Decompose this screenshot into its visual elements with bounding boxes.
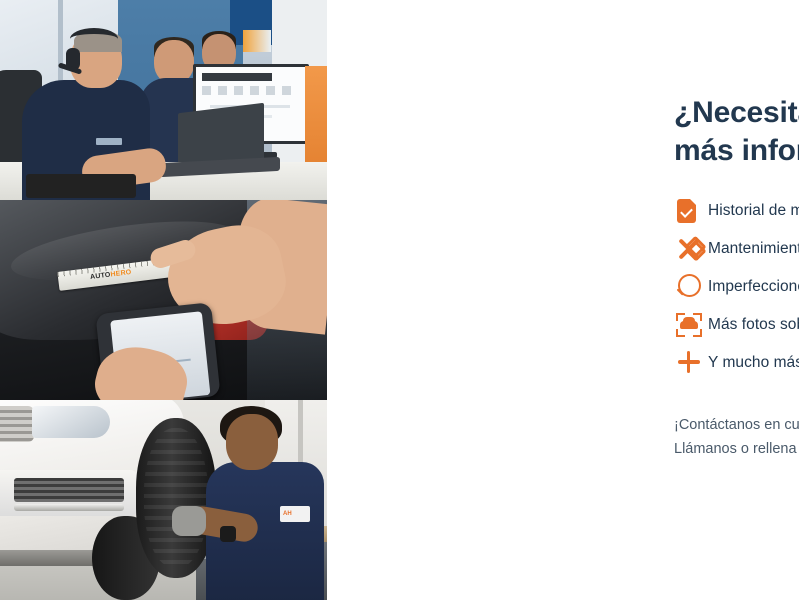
- contact-paragraph: ¡Contáctanos en cualquier momento para m…: [674, 413, 799, 463]
- contact-paragraph-line-1: ¡Contáctanos en cualquier momento para m…: [674, 413, 799, 438]
- feature-label: Historial de mantenimientos: [708, 202, 799, 220]
- feature-item-mas-fotos-sobre-el-coche: Más fotos sobre el coche: [674, 306, 799, 344]
- contact-paragraph-line-2: Llámanos o rellena el formulario de cont…: [674, 437, 799, 462]
- ruler-brand-bold: HERO: [110, 269, 132, 279]
- mechanic-uniform-badge: AH: [280, 506, 310, 522]
- feature-item-historial-de-mantenimientos: Historial de mantenimientos: [674, 192, 799, 230]
- feature-label: Más fotos sobre el coche: [708, 316, 799, 334]
- uniform-badge-text: AH: [283, 511, 292, 517]
- mechanic-head: [226, 414, 278, 470]
- car-chrome-trim: [14, 504, 124, 511]
- front-wheel-tyre: [136, 418, 216, 578]
- feature-label: Y mucho más: [708, 354, 799, 372]
- page-title-line-2: más información?: [674, 132, 799, 170]
- car-headlight: [32, 406, 110, 438]
- photo-call-center-agents-with-headsets: [0, 0, 327, 200]
- content-panel: ¿Necesitas más información? Estamos enca…: [327, 0, 799, 600]
- desk-tablet: [26, 174, 136, 198]
- monitor-screen-header: [202, 73, 272, 81]
- feature-item-imperfecciones: Imperfecciones: [674, 268, 799, 306]
- mechanic: AH: [206, 410, 327, 600]
- mechanic-watch: [220, 526, 236, 542]
- photo-inspection-ruler-on-car-body: AUTOHERO: [0, 200, 327, 400]
- feature-label: Mantenimiento realizado: [708, 240, 799, 258]
- page-title: ¿Necesitas más información?: [674, 94, 799, 170]
- information-banner: AUTOHERO: [0, 0, 799, 600]
- monitor-screen-icons: [202, 86, 298, 95]
- headset-band: [70, 28, 118, 50]
- feature-item-y-mucho-mas: Y mucho más: [674, 344, 799, 382]
- mechanic-glove: [172, 506, 206, 536]
- agent-one-uniform-logo: [96, 138, 122, 145]
- tyre-tread: [144, 428, 208, 568]
- ruler-brand-light: AUTO: [90, 272, 111, 281]
- car-air-intake: [14, 478, 124, 502]
- photo-mechanic-inspecting-wheel-on-lift: AH: [0, 400, 327, 600]
- plus-icon: [674, 348, 708, 378]
- feature-list: Historial de mantenimientos Mantenimient…: [674, 192, 799, 382]
- car-grille: [0, 406, 34, 442]
- car-focus-icon: [674, 310, 708, 340]
- feature-label: Imperfecciones: [708, 278, 799, 296]
- feature-item-mantenimiento-realizado: Mantenimiento realizado: [674, 230, 799, 268]
- document-check-icon: [674, 196, 708, 226]
- crossed-tools-icon: [674, 234, 708, 264]
- page-title-line-1: ¿Necesitas: [674, 94, 799, 132]
- magnifier-icon: [674, 272, 708, 302]
- photo-column: AUTOHERO: [0, 0, 327, 600]
